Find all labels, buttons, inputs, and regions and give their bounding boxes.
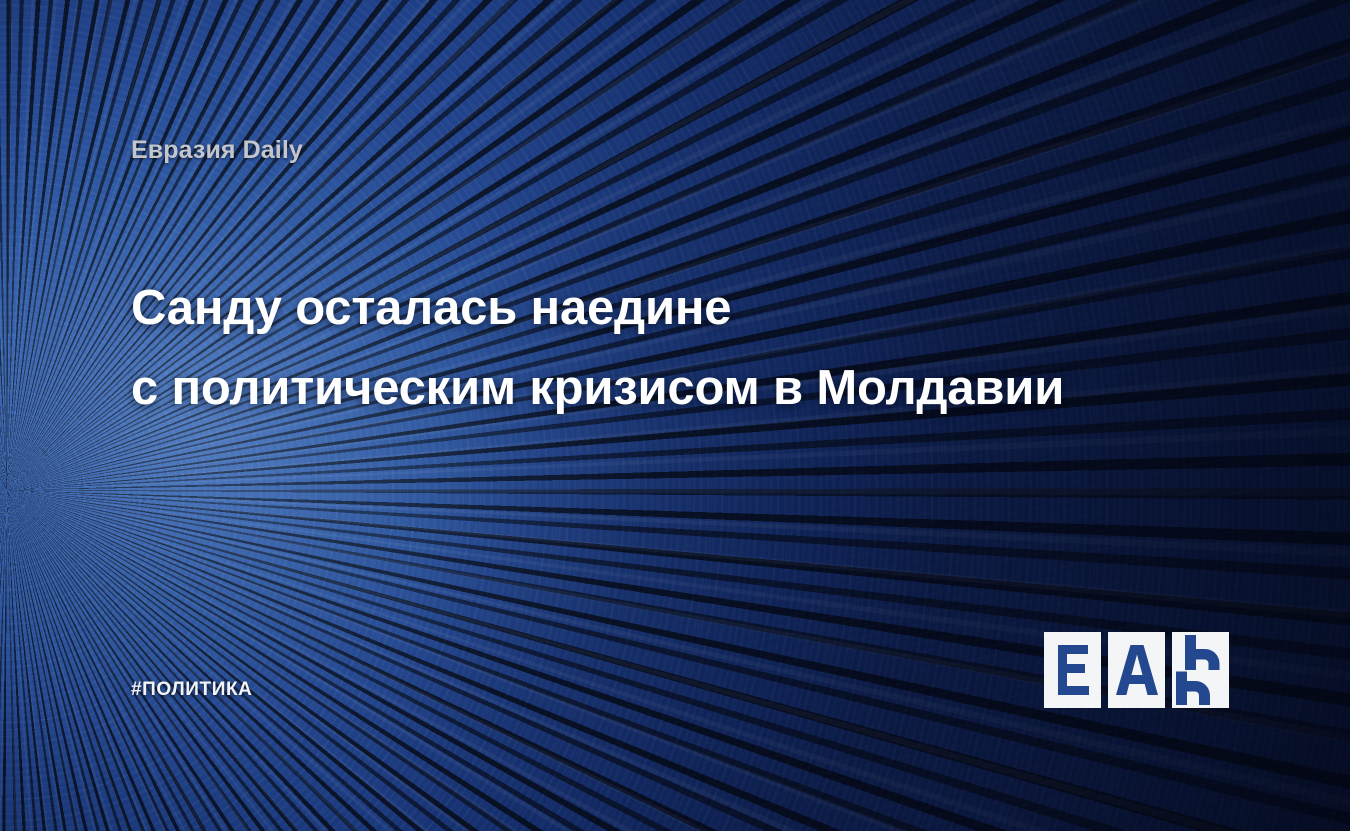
headline-line-2: с политическим кризисом в Молдавии: [131, 348, 1251, 428]
ead-logo-svg: [1044, 629, 1230, 711]
ead-logo-tile-e: [1044, 632, 1101, 708]
ead-logo: [1044, 629, 1230, 711]
card-content: Евразия Daily Санду осталась наедине с п…: [0, 0, 1350, 831]
ead-letter-e-glyph: [1058, 645, 1089, 695]
category-hashtag: #ПОЛИТИКА: [131, 679, 253, 701]
ead-logo-tile-a: [1108, 632, 1165, 708]
brand-wordmark: Евразия Daily: [131, 136, 303, 165]
ead-logo-tile-d: [1172, 632, 1229, 708]
news-card: Евразия Daily Санду осталась наедине с п…: [0, 0, 1350, 831]
article-headline: Санду осталась наедине с политическим кр…: [131, 268, 1251, 428]
headline-line-1: Санду осталась наедине: [131, 268, 1251, 348]
